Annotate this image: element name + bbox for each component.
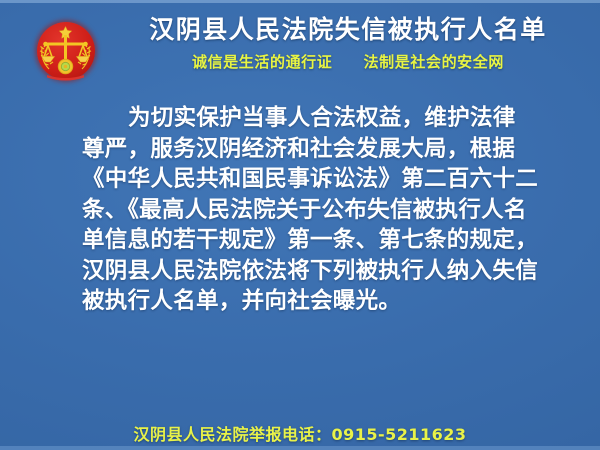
footer-hotline: 汉阴县人民法院举报电话：0915-5211623 [0,424,600,446]
title-block: 汉阴县人民法院失信被执行人名单 诚信是生活的通行证 法制是社会的安全网 [108,12,588,74]
body-line: 《中华人民共和国民事诉讼法》第二百六十二 [82,164,534,195]
page-title: 汉阴县人民法院失信被执行人名单 [108,12,588,48]
china-court-emblem-icon [31,17,100,87]
body-line: 为切实保护当事人合法权益，维护法律 [82,103,534,134]
body-line: 单信息的若干规定》第一条、第七条的规定， [82,225,534,256]
poster-header: 汉阴县人民法院失信被执行人名单 诚信是生活的通行证 法制是社会的安全网 [0,12,600,94]
body-line: 被执行人名单，并向社会曝光。 [82,286,534,317]
top-edge-strip [0,0,600,3]
bottom-edge-strip [0,446,600,450]
poster-canvas: 汉阴县人民法院失信被执行人名单 诚信是生活的通行证 法制是社会的安全网 为切实保… [0,0,600,450]
emblem-artwork [31,17,100,87]
poster-content: 汉阴县人民法院失信被执行人名单 诚信是生活的通行证 法制是社会的安全网 为切实保… [0,0,600,450]
body-line: 尊严，服务汉阴经济和社会发展大局，根据 [82,134,534,165]
body-line: 汉阴县人民法院依法将下列被执行人纳入失信 [82,256,534,287]
page-subtitle: 诚信是生活的通行证 法制是社会的安全网 [108,50,588,74]
body-line: 条、《最高人民法院关于公布失信被执行人名 [82,195,534,226]
announcement-body: 为切实保护当事人合法权益，维护法律 尊严，服务汉阴经济和社会发展大局，根据 《中… [82,103,534,317]
